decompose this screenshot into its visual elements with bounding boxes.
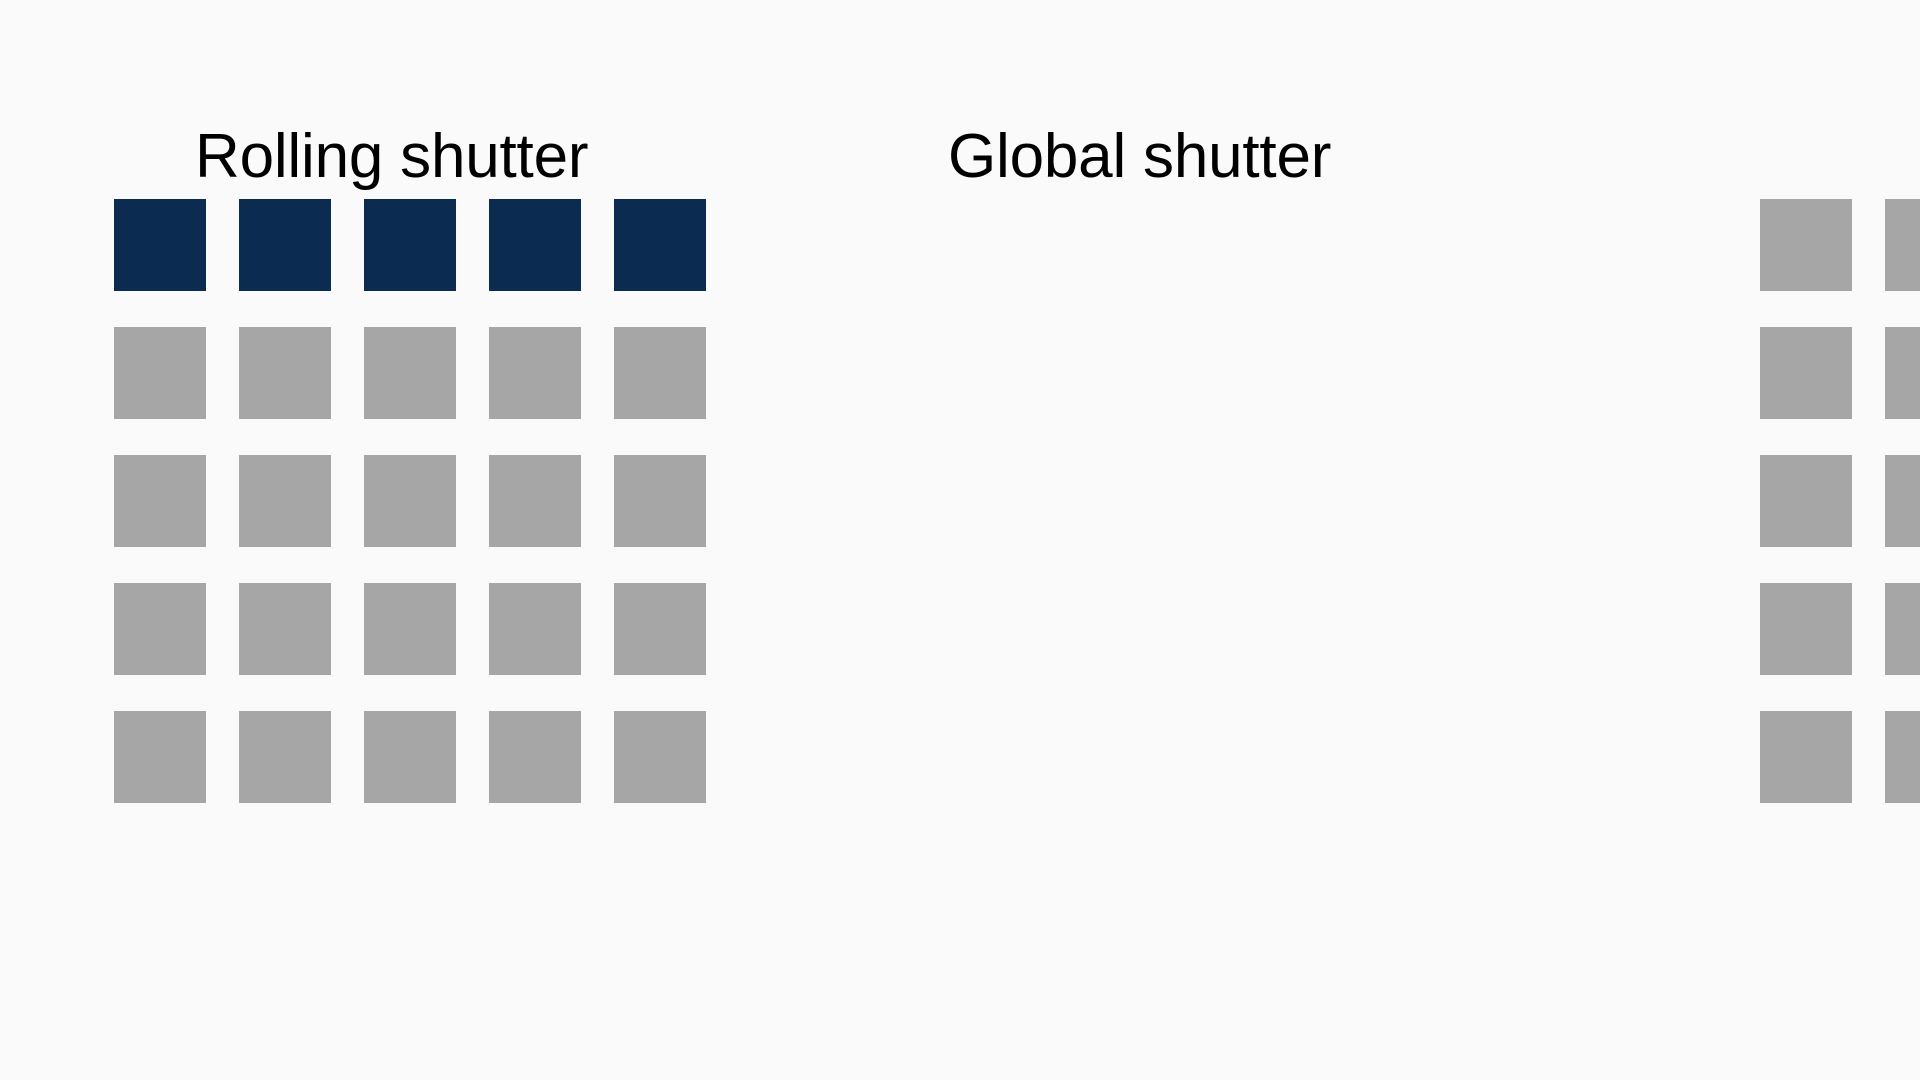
sensor-pixel: [1760, 711, 1852, 803]
sensor-grid-rolling-shutter: [114, 199, 706, 803]
sensor-pixel: [489, 583, 581, 675]
sensor-grid-global-shutter: [1760, 199, 1920, 803]
sensor-pixel: [1885, 327, 1920, 419]
sensor-pixel: [489, 199, 581, 291]
sensor-pixel: [489, 455, 581, 547]
sensor-pixel: [239, 455, 331, 547]
sensor-pixel: [114, 327, 206, 419]
sensor-pixel: [1885, 583, 1920, 675]
panel-title-global-shutter: Global shutter: [948, 113, 1331, 201]
sensor-pixel: [1885, 455, 1920, 547]
sensor-pixel: [239, 583, 331, 675]
sensor-pixel: [114, 455, 206, 547]
sensor-pixel: [1760, 455, 1852, 547]
shutter-comparison-figure: Rolling shutter Global shutter: [0, 0, 1920, 1080]
sensor-pixel: [614, 455, 706, 547]
sensor-pixel: [1760, 583, 1852, 675]
panel-rolling-shutter: Rolling shutter: [0, 0, 900, 1080]
panel-title-rolling-shutter: Rolling shutter: [195, 113, 588, 201]
sensor-pixel: [114, 711, 206, 803]
sensor-pixel: [364, 199, 456, 291]
sensor-pixel: [114, 199, 206, 291]
sensor-pixel: [364, 711, 456, 803]
sensor-pixel: [364, 327, 456, 419]
sensor-pixel: [1885, 711, 1920, 803]
sensor-pixel: [489, 327, 581, 419]
sensor-pixel: [1760, 199, 1852, 291]
sensor-pixel: [489, 711, 581, 803]
sensor-pixel: [1885, 199, 1920, 291]
sensor-pixel: [114, 583, 206, 675]
panel-global-shutter: Global shutter: [900, 0, 1920, 1080]
sensor-pixel: [1760, 327, 1852, 419]
sensor-pixel: [614, 199, 706, 291]
sensor-pixel: [239, 711, 331, 803]
sensor-pixel: [239, 199, 331, 291]
sensor-pixel: [364, 583, 456, 675]
sensor-pixel: [614, 327, 706, 419]
sensor-pixel: [614, 711, 706, 803]
sensor-pixel: [364, 455, 456, 547]
sensor-pixel: [239, 327, 331, 419]
sensor-pixel: [614, 583, 706, 675]
